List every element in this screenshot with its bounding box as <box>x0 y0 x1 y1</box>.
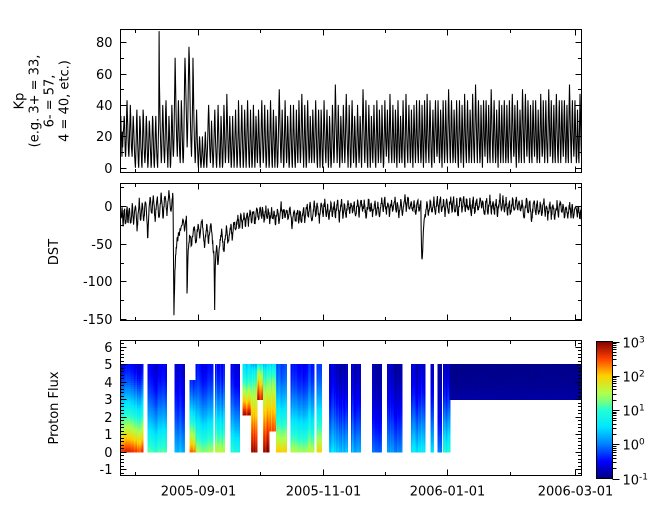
kp-axis-label-line: Kp <box>13 93 28 110</box>
kp-panel: 020406080 <box>96 30 582 178</box>
figure-root: 020406080Kp(e.g. 3+ = 33,6- = 57,4 = 40,… <box>0 0 665 523</box>
heatmap-cell <box>212 450 214 453</box>
dst-panel: 0-50-100-150 <box>83 184 582 329</box>
kp-axis-label: Kp(e.g. 3+ = 33,6- = 57,4 = 40, etc.) <box>13 55 73 148</box>
y-tick-label: 40 <box>96 99 113 114</box>
multi-panel-plot: 020406080Kp(e.g. 3+ = 33,6- = 57,4 = 40,… <box>0 0 665 523</box>
heatmap-cell <box>184 450 186 453</box>
y-tick-label: 80 <box>96 36 113 51</box>
heatmap-cell <box>166 450 168 453</box>
y-tick-label: 60 <box>96 68 113 83</box>
heatmap-cell <box>256 450 258 453</box>
dst-trace <box>121 190 582 315</box>
heatmap-cell <box>238 450 240 453</box>
kp-axis-label-line: 6- = 57, <box>43 75 58 128</box>
y-tick-label: -50 <box>91 238 112 253</box>
y-tick-label: 0 <box>104 162 112 177</box>
kp-axis-label-line: (e.g. 3+ = 33, <box>28 55 43 148</box>
kp-trace <box>121 31 582 168</box>
y-tick-label: 0 <box>104 200 112 215</box>
proton-flux-heatmap <box>121 364 583 452</box>
y-tick-label: -100 <box>83 275 113 290</box>
heatmap-cell <box>142 450 144 453</box>
kp-axis-label-line: 4 = 40, etc.) <box>58 60 73 142</box>
dst-axis-label: DST <box>47 239 62 265</box>
y-tick-label: 20 <box>96 130 113 145</box>
heatmap-cell <box>223 450 225 453</box>
dst-axis-label-line: DST <box>47 239 62 265</box>
y-tick-label: -150 <box>83 313 113 328</box>
